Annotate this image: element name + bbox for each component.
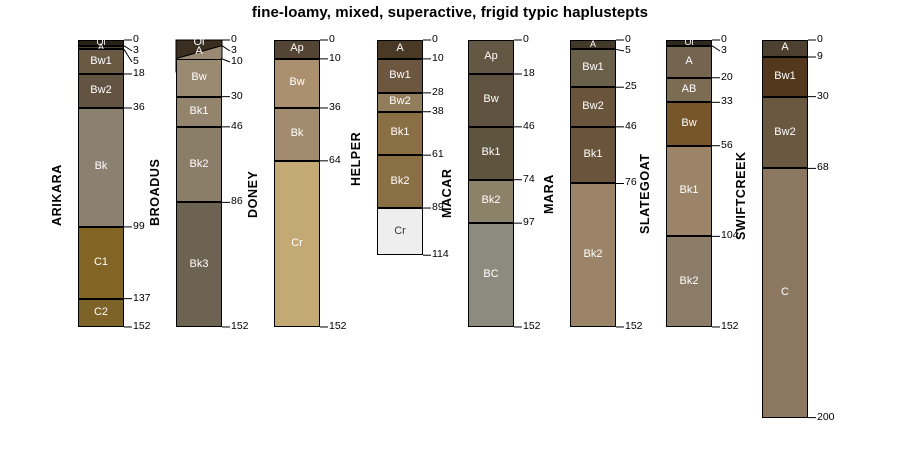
soil-horizon[interactable] xyxy=(78,299,124,327)
depth-tick-label: 10 xyxy=(432,52,444,64)
depth-tick-label: 99 xyxy=(133,220,145,232)
depth-tick-label: 137 xyxy=(133,292,151,304)
depth-tick-label: 97 xyxy=(523,216,535,228)
depth-tick-label: 86 xyxy=(231,195,243,207)
depth-tick-label: 114 xyxy=(432,248,449,260)
soil-horizon[interactable] xyxy=(176,127,222,203)
depth-tick-label: 152 xyxy=(133,320,151,332)
depth-tick-label: 25 xyxy=(625,80,637,92)
depth-tick-label: 0 xyxy=(523,33,529,45)
depth-tick-label: 152 xyxy=(231,320,249,332)
soil-horizon[interactable] xyxy=(377,112,423,155)
depth-tick-label: 30 xyxy=(817,90,829,102)
soil-horizon[interactable] xyxy=(468,74,514,127)
depth-tick-label: 152 xyxy=(329,320,347,332)
depth-tick-label: 68 xyxy=(817,161,829,173)
soil-profile-plot: ARIKARAOiABw1Bw2BkC1C2035183699137152BRO… xyxy=(0,0,900,450)
depth-tick-label: 10 xyxy=(329,52,341,64)
depth-tick-label: 9 xyxy=(817,50,823,62)
soil-horizon[interactable] xyxy=(274,108,320,161)
depth-tick-label: 61 xyxy=(432,148,444,160)
depth-tick-leader xyxy=(712,46,720,51)
profile-name-label: DONEY xyxy=(246,171,260,218)
depth-tick-label: 3 xyxy=(721,44,727,56)
soil-horizon[interactable] xyxy=(176,202,222,327)
soil-horizon[interactable] xyxy=(377,93,423,112)
soil-horizon[interactable] xyxy=(274,161,320,327)
soil-horizon[interactable] xyxy=(78,227,124,299)
depth-tick-label: 18 xyxy=(523,67,535,79)
soil-horizon[interactable] xyxy=(274,40,320,59)
soil-horizon[interactable] xyxy=(78,49,124,74)
soil-horizon[interactable] xyxy=(570,49,616,87)
soil-horizon[interactable] xyxy=(78,74,124,108)
profile-name-label: SLATEGOAT xyxy=(638,154,652,235)
depth-tick-label: 74 xyxy=(523,173,535,185)
depth-tick-label: 64 xyxy=(329,154,341,166)
depth-tick-label: 20 xyxy=(721,71,733,83)
soil-horizon[interactable] xyxy=(468,40,514,74)
soil-horizon[interactable] xyxy=(762,57,808,97)
depth-tick-label: 0 xyxy=(817,33,823,45)
soil-horizon[interactable] xyxy=(570,40,616,49)
profile-name-label: MARA xyxy=(542,174,556,214)
profile-name-label: HELPER xyxy=(349,132,363,186)
soil-horizon[interactable] xyxy=(377,40,423,59)
depth-tick-label: 10 xyxy=(231,55,243,67)
soil-horizon[interactable] xyxy=(666,146,712,237)
soil-horizon[interactable] xyxy=(570,87,616,127)
soil-horizon[interactable] xyxy=(666,102,712,145)
depth-tick-label: 18 xyxy=(133,67,145,79)
profile-name-label: MACAR xyxy=(440,168,454,218)
depth-tick-label: 152 xyxy=(625,320,643,332)
depth-tick-label: 30 xyxy=(231,90,243,102)
soil-horizon[interactable] xyxy=(468,223,514,327)
depth-tick-label: 200 xyxy=(817,411,835,423)
depth-tick-label: 0 xyxy=(432,33,438,45)
depth-tick-label: 152 xyxy=(721,320,739,332)
depth-tick-label: 36 xyxy=(133,101,145,113)
depth-tick-label: 33 xyxy=(721,95,733,107)
soil-horizon[interactable] xyxy=(468,127,514,180)
depth-tick-label: 56 xyxy=(721,139,733,151)
profile-name-label: SWIFTCREEK xyxy=(734,151,748,240)
depth-tick-label: 0 xyxy=(329,33,335,45)
depth-tick-label: 46 xyxy=(231,120,243,132)
depth-tick-label: 46 xyxy=(523,120,535,132)
soil-horizon[interactable] xyxy=(570,183,616,326)
depth-tick-leader xyxy=(222,46,230,51)
depth-tick-label: 152 xyxy=(523,320,541,332)
depth-tick-leader xyxy=(616,49,624,51)
soil-horizon[interactable] xyxy=(762,168,808,417)
depth-tick-label: 28 xyxy=(432,86,444,98)
profile-name-label: ARIKARA xyxy=(50,164,64,226)
soil-horizon[interactable] xyxy=(666,78,712,103)
soil-horizon[interactable] xyxy=(176,97,222,127)
depth-tick-leader xyxy=(222,59,230,62)
soil-horizon[interactable] xyxy=(377,208,423,255)
soil-horizon[interactable] xyxy=(468,180,514,223)
depth-tick-label: 38 xyxy=(432,105,444,117)
depth-tick-leader xyxy=(124,46,132,51)
soil-horizon[interactable] xyxy=(274,59,320,108)
soil-horizon[interactable] xyxy=(570,127,616,184)
depth-tick-label: 5 xyxy=(133,55,139,67)
soil-horizon[interactable] xyxy=(176,59,222,97)
soil-horizon[interactable] xyxy=(377,155,423,208)
depth-tick-leader xyxy=(124,49,132,62)
depth-tick-label: 36 xyxy=(329,101,341,113)
soil-horizon[interactable] xyxy=(762,97,808,169)
soil-horizon[interactable] xyxy=(666,236,712,327)
soil-horizon[interactable] xyxy=(762,40,808,57)
depth-tick-label: 76 xyxy=(625,176,637,188)
profile-name-label: BROADUS xyxy=(148,159,162,226)
soil-horizon[interactable] xyxy=(78,108,124,227)
soil-horizon[interactable] xyxy=(666,46,712,78)
depth-tick-label: 46 xyxy=(625,120,637,132)
soil-horizon[interactable] xyxy=(377,59,423,93)
depth-tick-label: 5 xyxy=(625,44,631,56)
